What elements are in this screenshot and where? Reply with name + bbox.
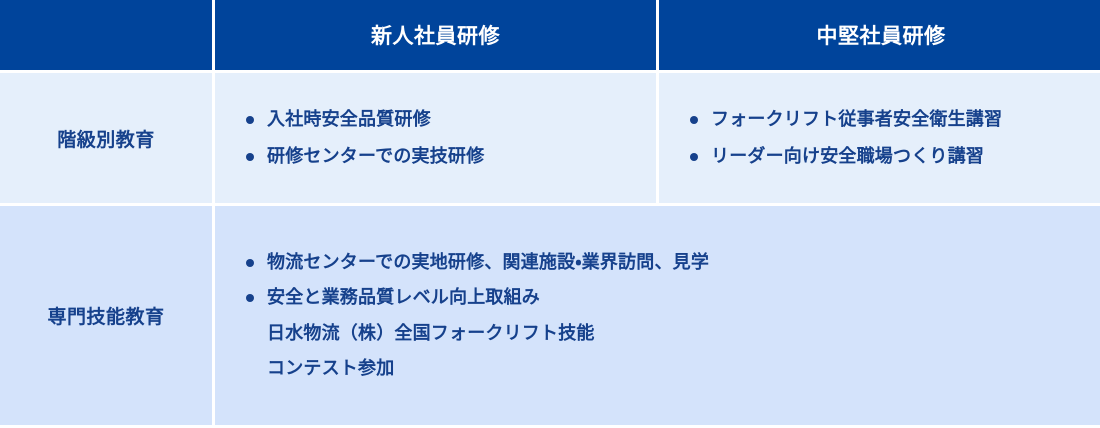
list-item-text: 安全と業務品質レベル向上取組み — [267, 287, 540, 308]
cell-rank-based-new-employee: 入社時安全品質研修 研修センターでの実技研修 — [215, 73, 656, 203]
list-item: 研修センターでの実技研修 — [245, 142, 638, 171]
bullet-list: 入社時安全品質研修 研修センターでの実技研修 — [245, 105, 638, 171]
table-header: 新人社員研修 中堅社員研修 — [0, 0, 1100, 70]
table-row: 専門技能教育 物流センターでの実地研修、関連施設・業界訪問、見学 安全と業務品質… — [0, 206, 1100, 425]
row-label-specialized-skill-education: 専門技能教育 — [0, 206, 212, 425]
list-item-subline: 日水物流（株）全国フォークリフト技能 — [267, 319, 1085, 348]
header-row: 新人社員研修 中堅社員研修 — [0, 0, 1100, 70]
list-item: 入社時安全品質研修 — [245, 105, 638, 134]
header-corner-cell — [0, 0, 212, 70]
list-item: リーダー向け安全職場つくり講習 — [689, 142, 1085, 171]
table-row: 階級別教育 入社時安全品質研修 研修センターでの実技研修 — [0, 73, 1100, 203]
bullet-dot-icon — [246, 259, 254, 267]
bullet-list: 物流センターでの実地研修、関連施設・業界訪問、見学 安全と業務品質レベル向上取組… — [245, 248, 1085, 383]
bullet-dot-icon — [690, 153, 698, 161]
training-program-table: 新人社員研修 中堅社員研修 階級別教育 入社時安全品質研修 研修センターでの実技… — [0, 0, 1100, 428]
bullet-dot-icon — [246, 116, 254, 124]
list-item: 物流センターでの実地研修、関連施設・業界訪問、見学 — [245, 248, 1085, 277]
list-item-text: 入社時安全品質研修 — [267, 109, 431, 130]
row-label-rank-based-education: 階級別教育 — [0, 73, 212, 203]
list-item: フォークリフト従事者安全衛生講習 — [689, 105, 1085, 134]
list-item: 安全と業務品質レベル向上取組み 日水物流（株）全国フォークリフト技能 コンテスト… — [245, 283, 1085, 382]
table-body: 階級別教育 入社時安全品質研修 研修センターでの実技研修 — [0, 73, 1100, 425]
bullet-dot-icon — [246, 294, 254, 302]
bullet-dot-icon — [246, 153, 254, 161]
header-column-midlevel-employee: 中堅社員研修 — [659, 0, 1100, 70]
list-item-text: 研修センターでの実技研修 — [267, 146, 484, 167]
header-column-new-employee: 新人社員研修 — [215, 0, 656, 70]
cell-rank-based-midlevel-employee: フォークリフト従事者安全衛生講習 リーダー向け安全職場つくり講習 — [659, 73, 1100, 203]
bullet-list: フォークリフト従事者安全衛生講習 リーダー向け安全職場つくり講習 — [689, 105, 1085, 171]
list-item-text: フォークリフト従事者安全衛生講習 — [711, 109, 1002, 130]
cell-specialized-skill-merged: 物流センターでの実地研修、関連施設・業界訪問、見学 安全と業務品質レベル向上取組… — [215, 206, 1100, 425]
list-item-subline: コンテスト参加 — [267, 354, 1085, 383]
list-item-text: リーダー向け安全職場つくり講習 — [711, 146, 984, 167]
bullet-dot-icon — [690, 116, 698, 124]
list-item-text: 物流センターでの実地研修、関連施設・業界訪問、見学 — [267, 252, 709, 273]
